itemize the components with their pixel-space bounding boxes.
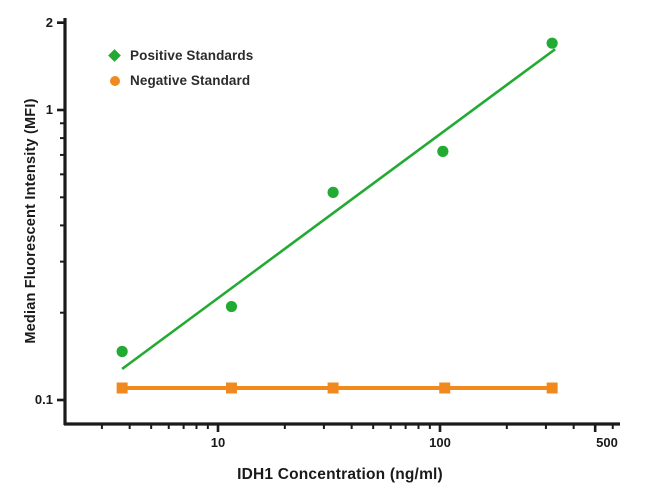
circle-marker-icon — [107, 73, 123, 89]
data-point — [226, 301, 237, 312]
plot-area — [0, 0, 650, 500]
chart-legend: Positive Standards Negative Standard — [107, 43, 253, 93]
legend-item-negative-standard: Negative Standard — [107, 68, 253, 93]
data-point — [437, 146, 448, 157]
chart-container: Median Fluorescent Intensity (MFI) IDH1 … — [0, 0, 650, 500]
data-point — [117, 382, 128, 393]
y-tick-label: 0.1 — [0, 392, 53, 407]
x-tick-label: 500 — [577, 435, 637, 450]
x-axis-title: IDH1 Concentration (ng/ml) — [60, 466, 620, 484]
legend-item-positive-standards: Positive Standards — [107, 43, 253, 68]
legend-label-negative-standard: Negative Standard — [130, 73, 250, 88]
y-axis-title: Median Fluorescent Intensity (MFI) — [23, 96, 39, 346]
y-tick-label: 2 — [0, 15, 53, 30]
data-point — [547, 38, 558, 49]
x-tick-label: 100 — [410, 435, 470, 450]
y-tick-label: 1 — [0, 102, 53, 117]
data-point — [117, 346, 128, 357]
x-tick-label: 10 — [188, 435, 248, 450]
regression-line — [122, 49, 555, 369]
data-point — [328, 187, 339, 198]
data-point — [328, 382, 339, 393]
legend-label-positive-standards: Positive Standards — [130, 48, 253, 63]
data-point — [439, 382, 450, 393]
data-point — [547, 382, 558, 393]
diamond-marker-icon — [107, 48, 123, 64]
data-point — [226, 382, 237, 393]
